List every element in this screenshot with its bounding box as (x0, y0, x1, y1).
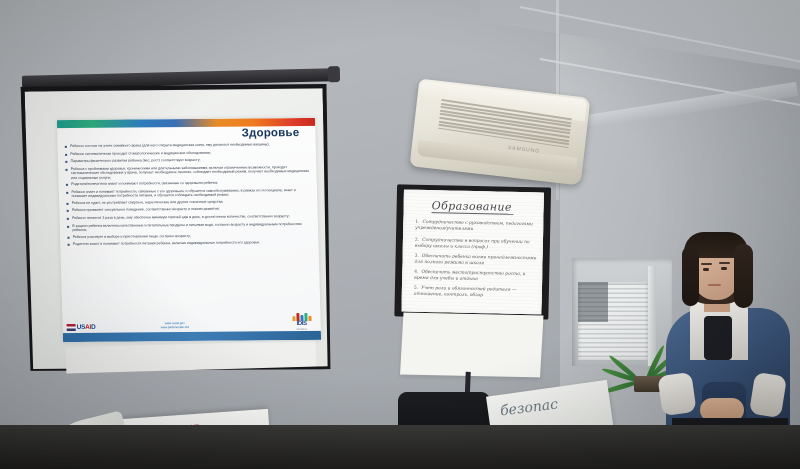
bullet-text: Ребенок питается 3 раза в день, ему обес… (72, 214, 290, 221)
bullet-marker-icon: ■ (65, 167, 68, 180)
slide-bullet-item: ■Ребенок не курит, не употребляет спиртн… (66, 199, 312, 207)
bullet-text: Ребенок знает и понимает потребности, св… (71, 188, 312, 199)
bullet-text: Ребенок с проблемами здоровья, хроническ… (71, 165, 312, 180)
presenter-arm-left (657, 372, 696, 416)
bullet-text: В рацион ребенка включены качественные и… (72, 222, 313, 233)
flipchart-item-text: Обеспечить ребенка всеми принадлежностям… (414, 254, 536, 266)
bullet-marker-icon: ■ (66, 201, 69, 207)
bullet-text: Ребенок не курит, не употребляет спиртно… (72, 200, 224, 207)
presenter-hair-side-right (734, 244, 753, 308)
slide-footer: USAID www.usaid.gov www.parteneriate.md … (62, 310, 321, 332)
projector-screen: Здоровье ■Ребенок состоит на учете семей… (22, 72, 334, 372)
presenter-shirt-placket (704, 316, 732, 360)
slide-bullet-item: ■Родители/попечители знают и понимают по… (66, 180, 312, 188)
bullet-marker-icon: ■ (66, 182, 69, 188)
bullet-marker-icon: ■ (67, 216, 70, 222)
bullet-text: Ребенок систематически проходит стоматол… (70, 150, 211, 157)
presenter-hair-side-left (682, 246, 699, 306)
presentation-room-photo: SAMSUNG Здоровье ■Ребенок состоит на уче… (0, 0, 800, 469)
flipchart-item-text: Обеспечить место/пространство роста, и в… (414, 270, 525, 282)
flipchart: Образование 1.Сотрудничество с руководст… (393, 184, 555, 387)
projected-slide: Здоровье ■Ребенок состоит на учете семей… (57, 118, 321, 342)
flipchart-item: 4.Обеспечить место/пространство роста, и… (414, 270, 536, 284)
flipchart-item-text: Сотрудничество с руководством, педагогам… (415, 220, 533, 232)
bullet-marker-icon: ■ (67, 224, 70, 233)
bullet-marker-icon: ■ (66, 190, 69, 199)
bullet-text: Ребенок проявляет сексуальное поведение,… (72, 207, 220, 214)
flipchart-item: 5.Учет роли и обязанностей родителя — от… (414, 286, 536, 300)
flipchart-item: 2.Сотрудничество в вопросах при обучении… (415, 238, 537, 252)
bullet-text: Родители знают и понимают потребности пи… (73, 241, 260, 248)
bullet-text: Параметры физического развития ребенка (… (71, 158, 201, 165)
usaid-logo: USAID (67, 324, 96, 331)
flipchart-item-text: Учет роли и обязанностей родителя — отно… (414, 286, 517, 298)
slide-bullet-item: ■Ребенок питается 3 раза в день, ему обе… (67, 214, 313, 222)
slide-bullet-item: ■В рацион ребенка включены качественные … (67, 222, 313, 233)
bullet-marker-icon: ■ (67, 235, 70, 241)
slide-bullet-item: ■Ребенок проявляет сексуальное поведение… (66, 206, 312, 214)
slide-bullet-item: ■Ребенок состоит на учете семейного врач… (65, 142, 311, 150)
bullet-text: Ребенок участвует в выборе и приготовлен… (73, 234, 191, 241)
flipchart-item-number: 3. (415, 254, 419, 259)
flipchart-paper: Образование 1.Сотрудничество с руководст… (401, 190, 544, 315)
floor (0, 425, 800, 469)
slide-bullet-item: ■Параметры физического развития ребенка … (65, 157, 311, 165)
logo-figures-icon (286, 313, 316, 321)
flipchart-item: 1.Сотрудничество с руководством, педагог… (415, 220, 537, 234)
flipchart-title: Образование (432, 199, 512, 214)
slide-bullet-item: ■Ребенок участвует в выборе и приготовле… (67, 233, 313, 241)
usaid-wordmark: USAID (77, 324, 96, 331)
slide-title: Здоровье (241, 127, 299, 139)
flipchart-item-number: 5. (414, 286, 418, 291)
idis-viitorul-logo: IDIS VIITORUL (286, 313, 316, 330)
window-glass-shadow (578, 282, 608, 322)
slide-bullet-item: ■Ребенок с проблемами здоровья, хроничес… (65, 165, 311, 181)
slide-bullet-item: ■Ребенок систематически проходит стомато… (65, 150, 311, 158)
flipchart-item-number: 2. (415, 238, 419, 243)
bullet-marker-icon: ■ (65, 144, 68, 150)
bullet-marker-icon: ■ (65, 159, 68, 165)
slide-bullet-list: ■Ребенок состоит на учете семейного врач… (65, 142, 314, 250)
presenter-mouth (708, 284, 721, 286)
bullet-marker-icon: ■ (66, 208, 69, 214)
web-link-2: www.parteneriate.md (161, 325, 189, 329)
slide-bullet-item: ■Родители знают и понимают потребности п… (67, 240, 313, 248)
bullet-text: Ребенок состоит на учете семейного врача… (70, 142, 269, 149)
flipchart-item-number: 1. (415, 220, 419, 225)
flipchart-item-number: 4. (414, 270, 418, 275)
projector-screen-knob[interactable] (328, 66, 340, 82)
slide-footer-web-links: www.usaid.gov www.parteneriate.md (161, 321, 189, 329)
flipchart-item-text: Сотрудничество в вопросах при обучении п… (415, 238, 530, 250)
bullet-marker-icon: ■ (65, 152, 68, 158)
usaid-flag-mark (67, 324, 76, 331)
flipchart-item: 3.Обеспечить ребенка всеми принадлежност… (414, 254, 536, 268)
flipchart-lower-sheet (400, 313, 543, 378)
slide-bullet-item: ■Ребенок знает и понимает потребности, с… (66, 188, 312, 199)
bullet-text: Родители/попечители знают и понимают пот… (71, 181, 218, 188)
bullet-marker-icon: ■ (67, 242, 70, 248)
